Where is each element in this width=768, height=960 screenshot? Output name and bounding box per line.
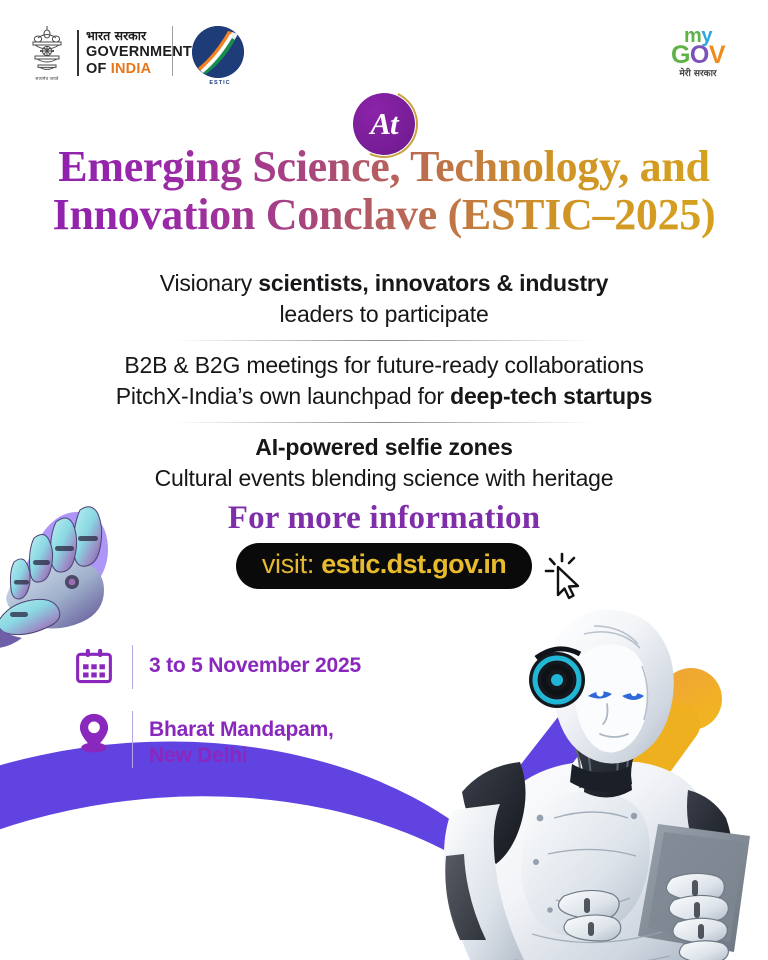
event-venue-text: Bharat Mandapam, New Delhi	[149, 711, 334, 768]
highlight-1-line-1: Visionary scientists, innovators & indus…	[40, 268, 728, 299]
poster-canvas: सत्यमेव जयते भारत सरकार GOVERNMENT OF IN…	[0, 0, 768, 960]
event-venue-row: Bharat Mandapam, New Delhi	[72, 711, 361, 768]
event-title-line2: Innovation Conclave (ESTIC–2025)	[0, 191, 768, 239]
government-wordmark: भारत सरकार GOVERNMENT OF INDIA	[77, 30, 192, 77]
estic-logo: ESTIC	[192, 26, 248, 90]
government-hindi-label: भारत सरकार	[86, 30, 192, 43]
highlight-3-line-2: Cultural events blending science with he…	[40, 463, 728, 494]
highlight-2-bold: deep-tech startups	[450, 383, 652, 409]
cta-heading: For more information	[0, 500, 768, 537]
section-divider-1	[174, 340, 594, 341]
event-title-line1: Emerging Science, Technology, and	[0, 143, 768, 191]
highlight-3-line-1: AI-powered selfie zones	[40, 432, 728, 463]
mygov-logo: my GOV मेरी सरकार	[650, 26, 746, 79]
click-cursor-icon	[538, 549, 590, 601]
visit-label: visit:	[262, 549, 321, 579]
government-of-india-logo: सत्यमेव जयते भारत सरकार GOVERNMENT OF IN…	[26, 24, 192, 82]
estic-logo-icon	[192, 26, 244, 78]
website-url[interactable]: estic.dst.gov.in	[321, 549, 506, 579]
estic-logo-label: ESTIC	[192, 80, 248, 86]
humanoid-robot-with-tablet-illustration	[444, 604, 768, 960]
location-pin-icon	[72, 711, 116, 755]
cta-section: For more information visit: estic.dst.go…	[0, 500, 768, 589]
event-details-divider-2	[132, 711, 133, 768]
government-line1: GOVERNMENT	[86, 45, 192, 60]
government-line2: OF INDIA	[86, 62, 192, 77]
poster-header: सत्यमेव जयते भारत सरकार GOVERNMENT OF IN…	[0, 0, 768, 96]
event-venue-line-2: New Delhi	[149, 743, 334, 769]
cta-pill-wrapper: visit: estic.dst.gov.in	[236, 543, 532, 589]
highlight-2-line-2: PitchX-India’s own launchpad for deep-te…	[40, 381, 728, 412]
at-badge-label: At	[370, 106, 397, 142]
highlight-3-bold: AI-powered selfie zones	[255, 434, 512, 460]
highlight-2-prefix: PitchX-India’s own launchpad for	[116, 383, 450, 409]
header-divider	[172, 26, 173, 76]
ashoka-emblem-icon: सत्यमेव जयते	[26, 24, 68, 82]
section-divider-2	[174, 422, 594, 423]
mygov-tagline: मेरी सरकार	[650, 70, 746, 79]
highlight-1-line-2: leaders to participate	[40, 299, 728, 330]
highlight-block-1: Visionary scientists, innovators & indus…	[0, 268, 768, 329]
highlight-2-line-1: B2B & B2G meetings for future-ready coll…	[40, 350, 728, 381]
government-of-prefix: OF	[86, 61, 111, 77]
event-date-row: 3 to 5 November 2025	[72, 645, 361, 689]
event-title: Emerging Science, Technology, and Innova…	[0, 143, 768, 239]
event-venue-line-1: Bharat Mandapam,	[149, 717, 334, 743]
highlights-section: Visionary scientists, innovators & indus…	[0, 268, 768, 493]
government-india-highlight: INDIA	[111, 61, 151, 77]
calendar-icon	[72, 645, 116, 689]
emblem-motto: सत्यमेव जयते	[26, 76, 68, 82]
mygov-gov-text: GOV	[650, 43, 746, 68]
event-details-divider-1	[132, 645, 133, 689]
highlight-block-2: B2B & B2G meetings for future-ready coll…	[0, 350, 768, 411]
highlight-1-bold: scientists, innovators & industry	[258, 270, 608, 296]
highlight-block-3: AI-powered selfie zones Cultural events …	[0, 432, 768, 493]
event-details-spacer	[72, 689, 361, 711]
highlight-1-prefix: Visionary	[160, 270, 259, 296]
event-details: 3 to 5 November 2025 Bharat Mandapam, Ne…	[72, 645, 361, 768]
website-link-pill[interactable]: visit: estic.dst.gov.in	[236, 543, 532, 589]
event-date-text: 3 to 5 November 2025	[149, 645, 361, 679]
